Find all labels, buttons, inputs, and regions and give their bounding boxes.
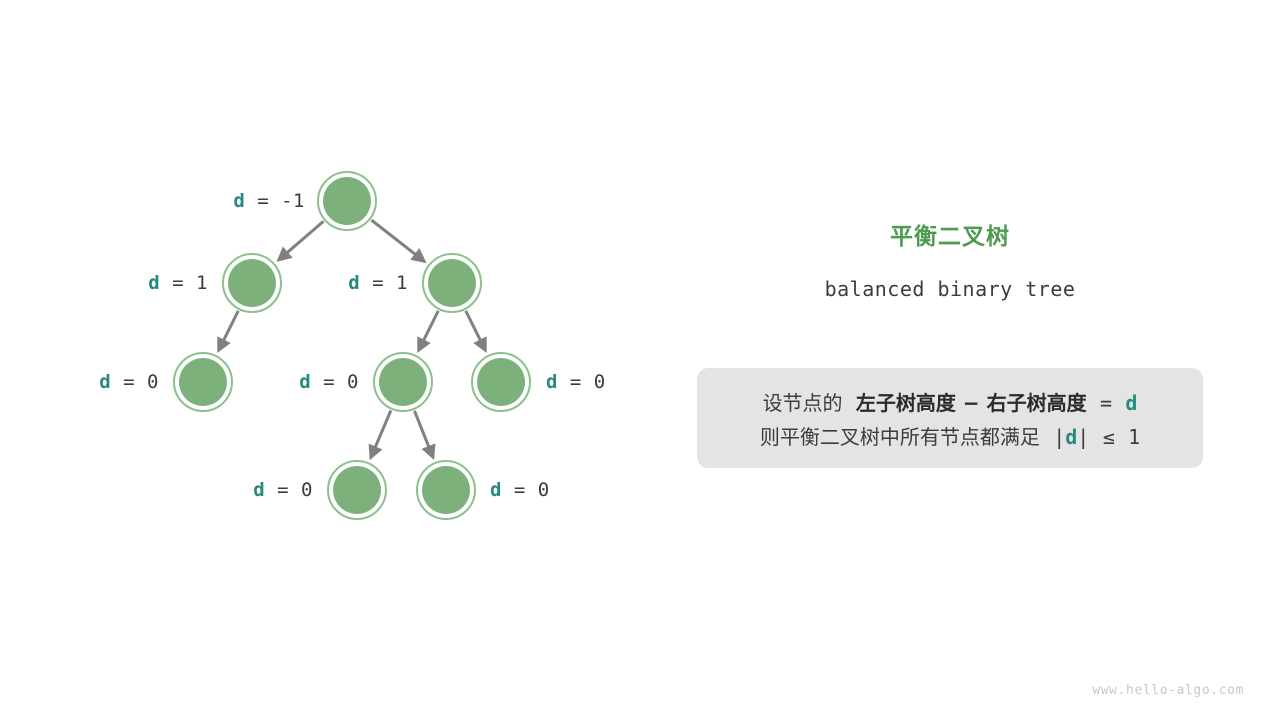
balance-factor-value: = 0 — [311, 371, 359, 393]
balance-factor-label: d = 1 — [148, 272, 208, 294]
tree-node-layer — [174, 172, 530, 519]
tree-edge — [419, 311, 439, 351]
tree-node — [318, 172, 376, 230]
definition-symbol-d-1: d — [1125, 391, 1137, 415]
tree-edge — [279, 221, 324, 260]
panel-title: 平衡二叉树 — [697, 222, 1203, 252]
balance-factor-label: d = 0 — [253, 479, 313, 501]
tree-edge — [371, 411, 391, 458]
balance-factor-value: = 0 — [265, 479, 313, 501]
balance-factor-symbol: d — [546, 371, 558, 393]
watermark: www.hello-algo.com — [1092, 683, 1244, 698]
abs-bar-open: | — [1053, 425, 1065, 449]
abs-bar-close: | — [1077, 425, 1089, 449]
tree-node-circle — [228, 259, 276, 307]
balance-factor-symbol: d — [490, 479, 502, 501]
panel-subtitle: balanced binary tree — [697, 276, 1203, 302]
balance-factor-label: d = 0 — [99, 371, 159, 393]
tree-node-circle — [333, 466, 381, 514]
diagram-canvas: d = -1d = 1d = 1d = 0d = 0d = 0d = 0d = … — [0, 0, 1280, 720]
tree-edge — [371, 220, 424, 261]
tree-edge — [414, 411, 433, 458]
tree-node-circle — [323, 177, 371, 225]
tree-node — [223, 254, 281, 312]
balance-factor-label: d = 0 — [299, 371, 359, 393]
balance-factor-value: = 0 — [502, 479, 550, 501]
tree-node-circle — [179, 358, 227, 406]
tree-node-circle — [422, 466, 470, 514]
balance-factor-symbol: d — [233, 190, 245, 212]
tree-node — [174, 353, 232, 411]
tree-edge — [466, 311, 486, 351]
tree-node — [374, 353, 432, 411]
definition-equals-1: = — [1100, 391, 1112, 415]
definition-prefix-1: 设节点的 — [763, 391, 843, 415]
balance-factor-symbol: d — [148, 272, 160, 294]
balance-factor-symbol: d — [299, 371, 311, 393]
balance-factor-label: d = 0 — [490, 479, 550, 501]
balance-factor-label: d = 0 — [546, 371, 606, 393]
tree-node — [417, 461, 475, 519]
definition-symbol-d-2: d — [1065, 425, 1077, 449]
tree-node-circle — [477, 358, 525, 406]
tree-node — [423, 254, 481, 312]
balance-factor-value: = 1 — [360, 272, 408, 294]
concept-panel: 平衡二叉树 balanced binary tree — [697, 222, 1203, 302]
balance-factor-value: = -1 — [245, 190, 305, 212]
tree-node-circle — [428, 259, 476, 307]
definition-line-1: 设节点的 左子树高度 − 右子树高度 = d — [697, 386, 1203, 420]
definition-line-2: 则平衡二叉树中所有节点都满足 |d| ≤ 1 — [697, 420, 1203, 454]
balance-factor-symbol: d — [348, 272, 360, 294]
definition-box: 设节点的 左子树高度 − 右子树高度 = d 则平衡二叉树中所有节点都满足 |d… — [697, 368, 1203, 468]
balance-factor-value: = 0 — [111, 371, 159, 393]
tree-edge — [219, 311, 239, 351]
definition-bold-expression: 左子树高度 − 右子树高度 — [856, 391, 1087, 415]
balance-factor-symbol: d — [253, 479, 265, 501]
tree-node — [472, 353, 530, 411]
binary-tree-graphic — [0, 0, 700, 600]
balance-factor-label: d = -1 — [233, 190, 305, 212]
tree-node — [328, 461, 386, 519]
balance-factor-symbol: d — [99, 371, 111, 393]
relation-value: 1 — [1128, 425, 1140, 449]
relation-operator: ≤ — [1103, 425, 1115, 449]
tree-node-circle — [379, 358, 427, 406]
balance-factor-value: = 0 — [558, 371, 606, 393]
balance-factor-value: = 1 — [160, 272, 208, 294]
definition-prefix-2: 则平衡二叉树中所有节点都满足 — [760, 425, 1040, 449]
balance-factor-label: d = 1 — [348, 272, 408, 294]
